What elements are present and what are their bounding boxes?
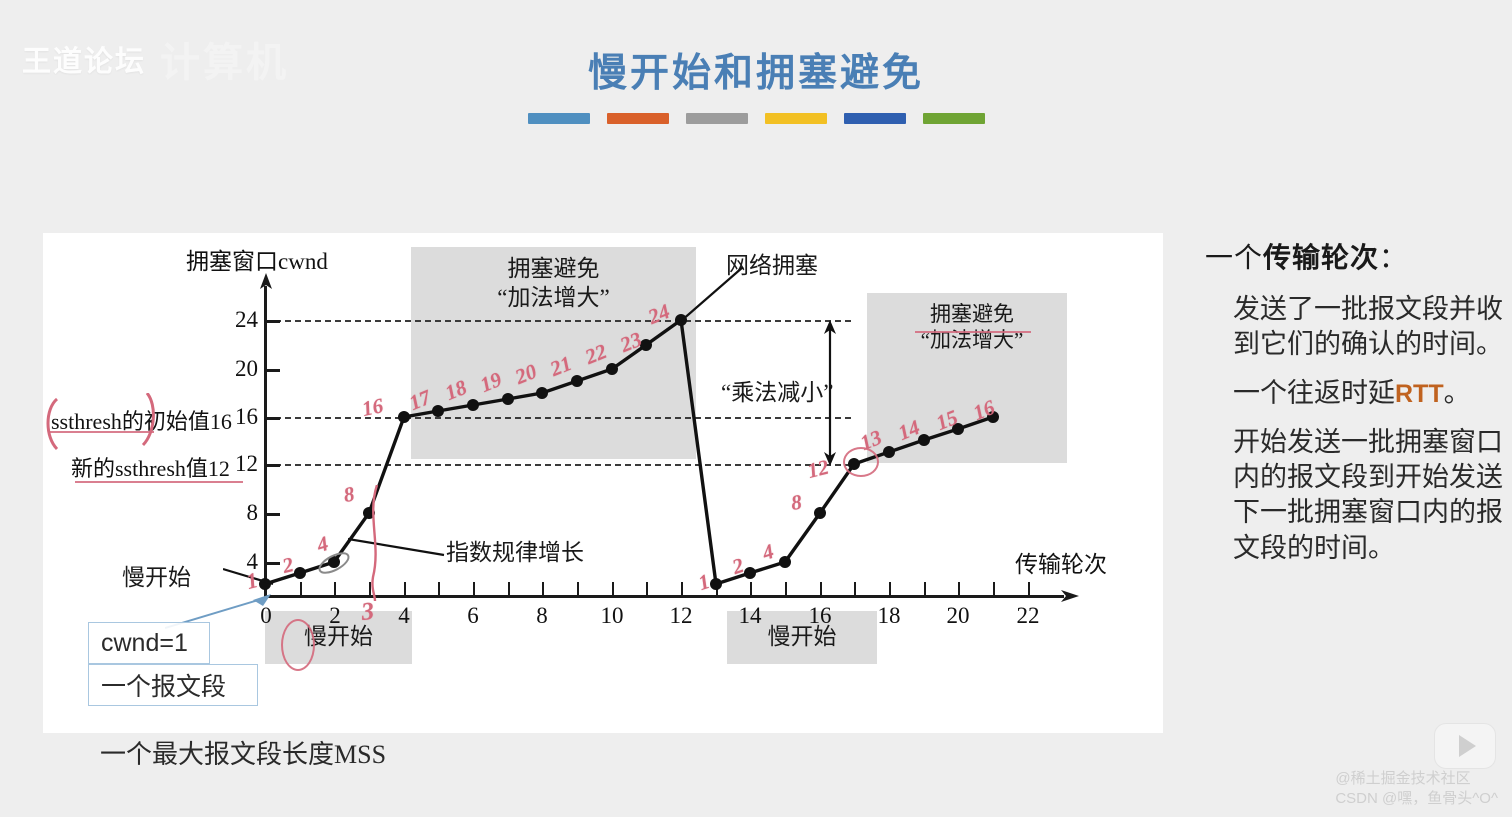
right-panel-paragraph-2: 一个往返时延RTT。 — [1233, 376, 1505, 411]
bar-green — [923, 113, 985, 124]
label-ca1-line1: 拥塞避免 “加法增大” — [497, 256, 609, 310]
segment-box: 一个报文段 — [88, 664, 258, 706]
network-congestion-leader — [681, 267, 751, 327]
hw-ssthresh-bracket — [43, 393, 173, 458]
heading-colon: ： — [1379, 243, 1408, 274]
bar-yellow — [765, 113, 827, 124]
rtt-highlight: RTT — [1395, 380, 1444, 408]
watermark-bottom-right: @稀土掘金技术社区 CSDN @嘿，鱼骨头^O^ — [1335, 769, 1498, 810]
cwnd-box: cwnd=1 — [88, 622, 210, 664]
hw-underline-ssthresh-initial — [49, 431, 154, 433]
label-slow-start-band-2: 慢开始 — [727, 623, 877, 652]
heading-bold: 传输轮次 — [1263, 243, 1379, 274]
right-panel-paragraph-3: 开始发送一批拥塞窗口内的报文段到开始发送下一批拥塞窗口内的报文段的时间。 — [1233, 425, 1505, 565]
label-multiplicative-decrease: “乘法减小” — [721, 373, 833, 407]
bar-blue — [528, 113, 590, 124]
title-decoration-bars — [0, 113, 1512, 124]
hw-bracket-exponential — [363, 485, 389, 603]
p2-prefix: 一个往返时延 — [1233, 378, 1395, 408]
mss-note: 一个最大报文段长度MSS — [100, 734, 386, 771]
right-panel-paragraph-1: 发送了一批报文段并收到它们的确认的时间。 — [1233, 292, 1505, 362]
play-triangle — [1459, 735, 1476, 757]
right-text-panel: 一个传输轮次： 发送了一批报文段并收到它们的确认的时间。 一个往返时延RTT。 … — [1205, 236, 1505, 580]
label-slow-start-pointer: 慢开始 — [122, 558, 191, 592]
bar-gray — [686, 113, 748, 124]
hw-underline-ca2 — [915, 331, 1031, 333]
heading-prefix: 一个 — [1205, 243, 1263, 274]
watermark-br-line2: CSDN @嘿，鱼骨头^O^ — [1335, 789, 1498, 809]
marker-ellipse-4 — [316, 551, 352, 575]
play-icon[interactable] — [1434, 723, 1496, 769]
bar-darkblue — [844, 113, 906, 124]
page-title: 慢开始和拥塞避免 — [0, 42, 1512, 98]
right-panel-heading: 一个传输轮次： — [1205, 236, 1505, 276]
label-congestion-avoidance-1: 拥塞避免 “加法增大” — [421, 255, 686, 313]
hw-circle-slow-start-1 — [281, 619, 315, 671]
watermark-br-line1: @稀土掘金技术社区 — [1335, 769, 1498, 789]
p2-suffix: 。 — [1444, 378, 1471, 408]
label-congestion-avoidance-2: 拥塞避免 “加法增大” — [877, 301, 1067, 354]
label-ca2-line1: 拥塞避免 “加法增大” — [921, 302, 1024, 352]
chart-panel: 24 20 16 12 8 4 拥塞窗口cwnd 传输轮次 — [43, 233, 1163, 733]
label-exponential-growth: 指数规律增长 — [446, 533, 584, 567]
bar-orange — [607, 113, 669, 124]
chart-plot-area: 24 20 16 12 8 4 拥塞窗口cwnd 传输轮次 — [43, 233, 1163, 733]
hw-underline-ssthresh-new — [75, 481, 243, 483]
